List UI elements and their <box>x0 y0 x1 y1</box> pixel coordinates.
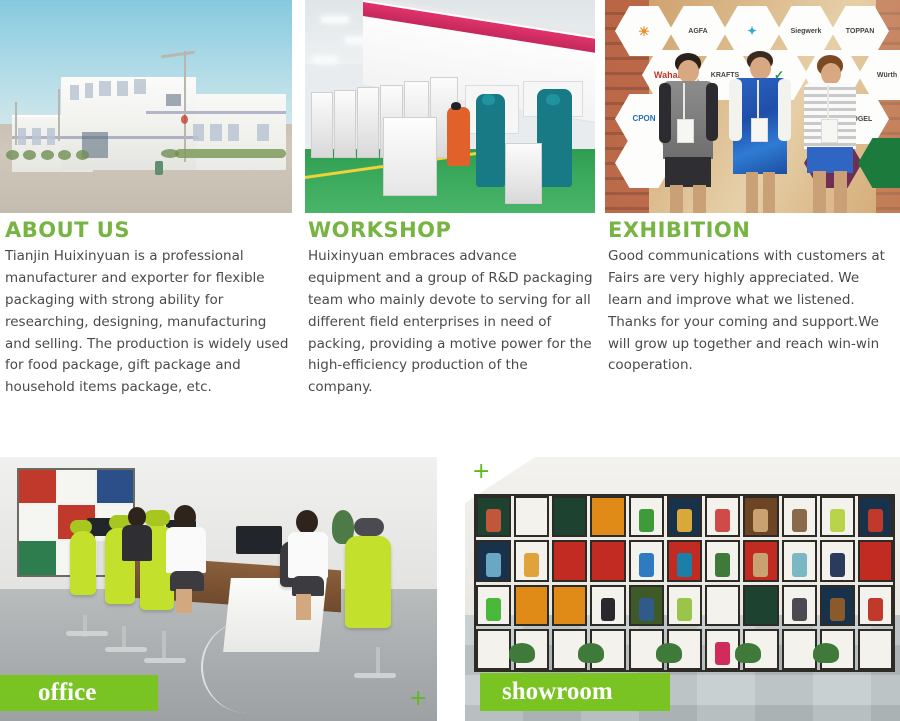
window <box>134 79 146 94</box>
shrub <box>58 150 71 160</box>
shirt <box>166 527 206 573</box>
product-sample <box>486 598 501 621</box>
window <box>228 124 240 141</box>
head <box>174 505 196 529</box>
display-cube <box>743 540 778 581</box>
product-sample <box>601 598 616 621</box>
sponsor-hex-logo: AGFA <box>669 6 727 56</box>
sponsor-hex-logo: ☀ <box>615 6 673 56</box>
product-sample <box>677 598 692 621</box>
exhibition-attendee <box>657 53 719 213</box>
exhibition-booth-photo: ☀ AGFA ✦ Siegwerk TOPPAN Wahaha KRAFTS ✓ <box>605 0 900 213</box>
display-cube <box>782 496 817 537</box>
display-cube <box>820 540 855 581</box>
display-cube <box>552 540 587 581</box>
product-sample <box>753 509 768 532</box>
text-columns-row: ABOUT US Tianjin Huixinyuan is a profess… <box>0 213 900 455</box>
leg <box>834 171 847 213</box>
product-sample <box>677 509 692 532</box>
shorts <box>665 157 711 187</box>
chair-stem <box>162 631 166 659</box>
leg <box>746 172 758 213</box>
product-sample <box>715 553 730 576</box>
office-photo-panel[interactable]: office + <box>0 457 437 721</box>
shorts <box>292 576 324 596</box>
window <box>70 85 79 100</box>
press-unit <box>334 90 356 158</box>
display-cube <box>820 496 855 537</box>
shelf-cube <box>97 470 134 504</box>
sponsor-hex-logo: ✦ <box>723 6 781 56</box>
window <box>85 83 94 98</box>
display-cube <box>782 585 817 626</box>
display-cube <box>782 629 817 670</box>
display-cube <box>629 540 664 581</box>
showroom-caption-text: showroom <box>502 678 613 706</box>
leg <box>693 185 706 213</box>
trash-bin <box>155 161 163 175</box>
face <box>678 60 699 83</box>
potted-plant <box>656 643 682 663</box>
office-workspace-photo: office <box>0 457 437 721</box>
display-cube <box>590 540 625 581</box>
visitor-badge <box>821 119 838 143</box>
display-cube <box>514 496 549 537</box>
pole <box>15 102 17 145</box>
display-cube <box>858 629 893 670</box>
monitor <box>236 526 282 554</box>
shelf-cube <box>58 470 95 504</box>
office-caption-text: office <box>38 679 96 707</box>
display-cube <box>782 540 817 581</box>
office-worker <box>166 505 206 615</box>
display-cube <box>743 585 778 626</box>
display-cube <box>552 585 587 626</box>
display-cube <box>667 540 702 581</box>
window <box>47 128 56 145</box>
showroom-display-shelving-photo: showroom <box>465 457 900 721</box>
display-cube <box>514 540 549 581</box>
office-worker <box>288 510 328 622</box>
leg <box>763 172 775 213</box>
chair-headrest <box>354 518 384 536</box>
product-sample <box>639 553 654 576</box>
lanyard <box>683 83 685 121</box>
product-sample <box>639 509 654 532</box>
workshop-body: Huixinyuan embraces advance equipment an… <box>308 246 593 399</box>
exhibition-body: Good communications with customers at Fa… <box>608 246 896 377</box>
exhibition-heading: EXHIBITION <box>608 219 896 242</box>
press-unit <box>311 92 333 158</box>
top-photo-row: ☀ AGFA ✦ Siegwerk TOPPAN Wahaha KRAFTS ✓ <box>0 0 900 213</box>
shorts <box>170 571 204 591</box>
product-sample <box>830 509 845 532</box>
leg <box>813 171 826 213</box>
display-cube <box>476 540 511 581</box>
worker-teal-uniform <box>476 94 505 188</box>
window <box>32 128 41 145</box>
ceiling-light <box>322 17 348 22</box>
display-cube <box>476 585 511 626</box>
display-cube <box>858 585 893 626</box>
bottom-photo-row: office + <box>0 457 900 721</box>
head <box>128 507 146 527</box>
shrub <box>6 150 19 160</box>
product-sample <box>830 553 845 576</box>
showroom-photo-panel[interactable]: showroom + <box>465 457 900 721</box>
display-cube <box>552 496 587 537</box>
exhibition-column: EXHIBITION Good communications with cust… <box>608 213 896 377</box>
leg <box>670 185 683 213</box>
product-sample <box>639 598 654 621</box>
worker-orange-uniform <box>447 107 470 167</box>
sponsor-hex-logo: TOPPAN <box>831 6 889 56</box>
visitor-badge <box>677 119 694 143</box>
shirt <box>122 525 152 561</box>
exhibition-attendee <box>729 51 791 213</box>
office-worker <box>122 507 152 579</box>
head <box>296 510 318 534</box>
window <box>257 124 269 141</box>
lanyard <box>757 80 759 120</box>
display-cube <box>667 496 702 537</box>
chair-base <box>144 658 186 663</box>
sponsor-hex-logo: Würth <box>858 50 900 100</box>
display-cube <box>820 585 855 626</box>
leg <box>296 594 311 620</box>
product-sample <box>715 509 730 532</box>
leg <box>176 589 192 613</box>
decor-hex-green <box>858 138 900 188</box>
product-sample <box>677 553 692 576</box>
control-cabinet <box>383 117 437 196</box>
showroom-caption-badge: showroom <box>480 673 670 711</box>
face <box>750 57 771 80</box>
potted-plant <box>578 643 604 663</box>
hedge <box>175 149 286 158</box>
shrub <box>23 150 36 160</box>
red-sign <box>181 115 188 124</box>
shelf-cube <box>19 470 56 504</box>
chair-base <box>66 631 108 636</box>
ceiling-light <box>314 58 336 62</box>
shirt <box>288 532 328 578</box>
display-cube <box>476 629 511 670</box>
product-sample <box>486 509 501 532</box>
shorts <box>807 147 853 173</box>
workshop-photo-panel[interactable] <box>305 0 595 213</box>
chair-base <box>105 647 147 652</box>
workshop-column: WORKSHOP Huixinyuan embraces advance equ… <box>308 213 593 399</box>
operator-console <box>505 143 542 205</box>
potted-plant <box>813 643 839 663</box>
display-cube <box>667 585 702 626</box>
window <box>193 124 205 141</box>
display-cube <box>629 496 664 537</box>
display-cube <box>590 496 625 537</box>
backpack-strap <box>659 83 671 143</box>
factory-building-photo <box>0 0 292 213</box>
display-cube <box>858 540 893 581</box>
chair-stem <box>376 647 380 673</box>
product-sample <box>524 553 539 576</box>
worker-cap <box>546 94 560 105</box>
about-us-column: ABOUT US Tianjin Huixinyuan is a profess… <box>5 213 290 399</box>
floor-cable <box>201 621 293 713</box>
chair-base <box>354 673 396 678</box>
window <box>117 81 129 96</box>
lanyard <box>827 85 829 121</box>
office-caption-badge: office <box>0 675 158 711</box>
plus-icon[interactable]: + <box>472 461 490 483</box>
product-sample <box>868 598 883 621</box>
visitor-badge <box>751 118 768 142</box>
product-sample <box>486 553 501 576</box>
shelf-cube <box>19 505 56 539</box>
backpack-strap <box>706 83 718 141</box>
window <box>210 124 222 141</box>
window <box>18 128 27 145</box>
office-chair <box>70 531 96 595</box>
display-cube <box>629 585 664 626</box>
workshop-heading: WORKSHOP <box>308 219 593 242</box>
product-sample <box>792 509 807 532</box>
product-sample <box>792 598 807 621</box>
shelf-cube <box>19 541 56 575</box>
display-cube <box>590 585 625 626</box>
pole <box>58 89 60 140</box>
press-unit <box>357 87 379 157</box>
about-us-photo-panel[interactable] <box>0 0 292 213</box>
shrub <box>161 149 179 158</box>
product-sample <box>830 598 845 621</box>
company-profile-page: ☀ AGFA ✦ Siegwerk TOPPAN Wahaha KRAFTS ✓ <box>0 0 900 721</box>
vent-louvre <box>166 94 181 107</box>
display-cube <box>743 496 778 537</box>
cardigan <box>778 79 791 141</box>
workshop-printing-press-photo <box>305 0 595 213</box>
street-lamp-pole <box>184 51 186 162</box>
display-cube <box>476 496 511 537</box>
display-cube <box>705 540 740 581</box>
display-cube <box>858 496 893 537</box>
product-sample <box>715 642 730 665</box>
exhibition-attendee <box>801 55 859 213</box>
potted-plant <box>509 643 535 663</box>
display-cube <box>705 496 740 537</box>
shrub <box>76 150 89 160</box>
cardigan <box>729 79 742 141</box>
shrub <box>41 150 54 160</box>
worker-cap <box>482 94 495 105</box>
about-us-body: Tianjin Huixinyuan is a professional man… <box>5 246 290 399</box>
product-sample <box>868 509 883 532</box>
about-us-heading: ABOUT US <box>5 219 290 242</box>
facade-band <box>146 111 286 114</box>
product-sample <box>792 553 807 576</box>
exhibition-photo-panel[interactable]: ☀ AGFA ✦ Siegwerk TOPPAN Wahaha KRAFTS ✓ <box>605 0 900 213</box>
office-chair <box>345 536 391 628</box>
window <box>99 81 111 96</box>
product-sample <box>753 553 768 576</box>
plus-icon[interactable]: + <box>409 688 427 710</box>
face <box>821 63 841 85</box>
display-cube <box>514 585 549 626</box>
sponsor-hex-logo: Siegwerk <box>777 6 835 56</box>
potted-plant <box>735 643 761 663</box>
display-cube <box>705 585 740 626</box>
